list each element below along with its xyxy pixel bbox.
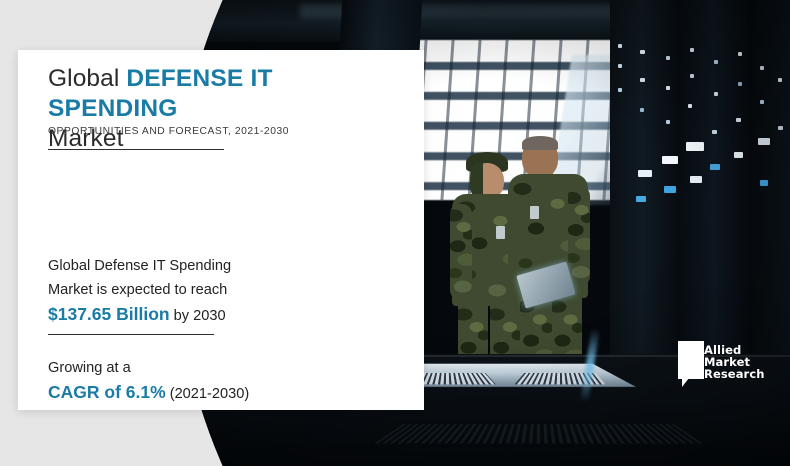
- floor-grate: [374, 424, 706, 443]
- primary-stat-line1: Global Defense IT Spending: [48, 258, 231, 274]
- primary-stat-line2: Market is expected to reach: [48, 282, 227, 298]
- secondary-stat-suffix: (2021-2030): [166, 386, 250, 402]
- logo-text-line3: Research: [704, 368, 765, 380]
- primary-stat: Global Defense IT Spending Market is exp…: [48, 254, 378, 328]
- page-title: Global DEFENSE IT SPENDING Market: [48, 64, 408, 154]
- logo-bubble-tail: [682, 378, 689, 387]
- secondary-stat-value: CAGR of 6.1%: [48, 382, 166, 402]
- secondary-stat: Growing at a CAGR of 6.1% (2021-2030): [48, 356, 378, 406]
- logo-square-mark: [681, 345, 688, 353]
- logo-bar-3: [681, 367, 701, 375]
- primary-stat-value: $137.65 Billion: [48, 304, 170, 324]
- allied-market-research-logo[interactable]: Allied Market Research: [678, 341, 764, 393]
- title-lead: Global: [48, 65, 126, 92]
- content-card-body: Global DEFENSE IT SPENDING Market OPPORT…: [18, 50, 424, 410]
- divider-top: [48, 149, 224, 150]
- primary-stat-suffix: by 2030: [170, 308, 226, 324]
- subtitle: OPPORTUNITIES AND FORECAST, 2021-2030: [48, 126, 289, 137]
- divider-middle: [48, 334, 214, 335]
- logo-bar-2: [681, 356, 701, 364]
- server-led-cluster: [610, 30, 790, 330]
- secondary-stat-line1: Growing at a: [48, 360, 131, 376]
- infographic-banner: Global DEFENSE IT SPENDING Market OPPORT…: [0, 0, 790, 466]
